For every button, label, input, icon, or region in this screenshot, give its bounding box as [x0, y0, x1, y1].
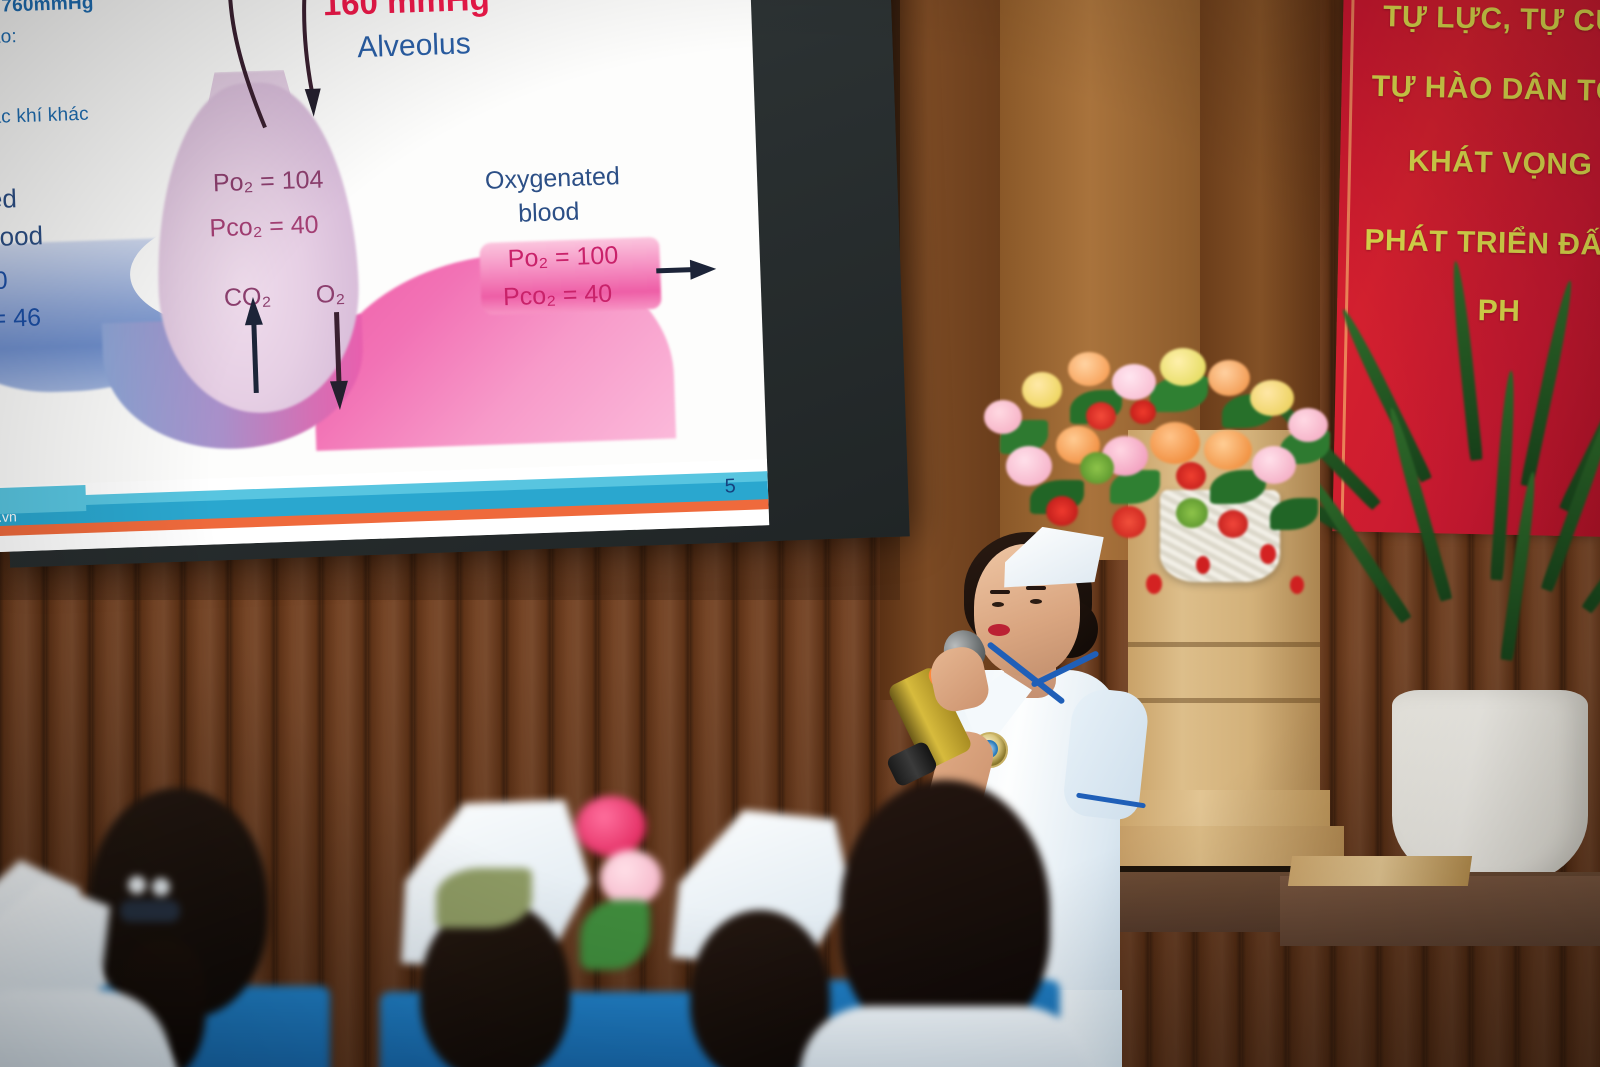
decor-flower-lightpink: [600, 850, 662, 906]
decor-flower-leaves: [580, 900, 650, 970]
banner-line-2: TỰ HÀO DÂN TỘC,: [1371, 70, 1600, 109]
nurse-lips: [988, 624, 1010, 636]
banner-line-1: TỰ LỰC, TỰ CƯỜNG,: [1383, 0, 1600, 39]
slide-page-number: 5: [724, 475, 736, 498]
decor-flower-pink: [576, 796, 646, 856]
audience-shoulder-bob: [800, 1006, 1090, 1067]
cap-green-ribbon: [436, 868, 532, 928]
stage-step: [1288, 856, 1472, 886]
slide-footer-url: qn.vn: [0, 508, 17, 525]
conference-hall-photo: TỰ LỰC, TỰ CƯỜNG, TỰ HÀO DÂN TỘC, KHÁT V…: [0, 0, 1600, 1067]
banner-line-3: KHÁT VỌNG: [1396, 144, 1600, 182]
audience-head-bob: [840, 780, 1050, 1040]
projection-screen: yền 760mmHg ít vào: à các khí khác CO₂ O…: [0, 0, 910, 568]
audience-edge-left: [0, 880, 280, 1067]
stage-floor-right: [1280, 876, 1600, 946]
presentation-slide: yền 760mmHg ít vào: à các khí khác CO₂ O…: [0, 0, 769, 552]
